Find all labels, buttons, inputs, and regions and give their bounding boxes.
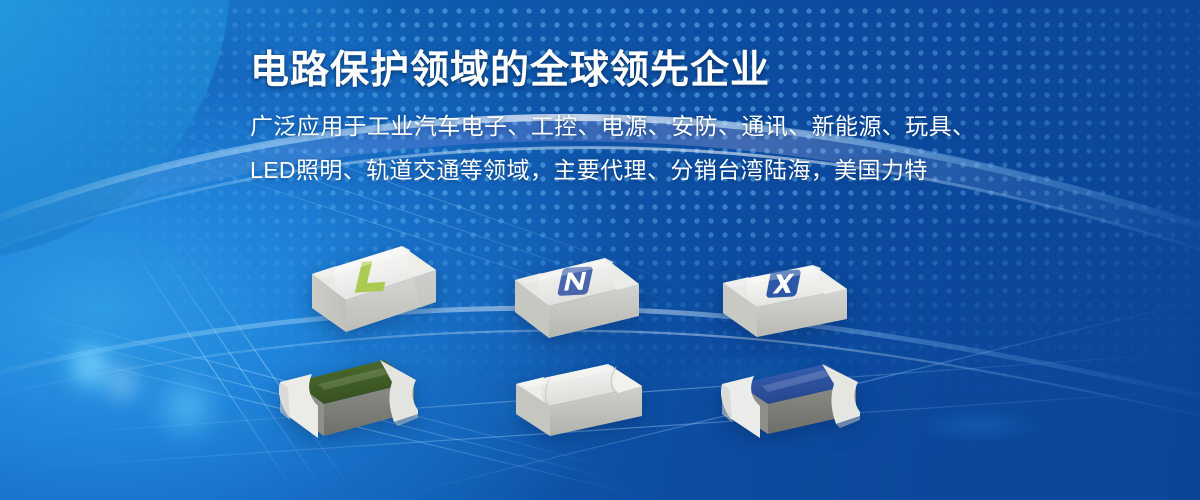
hero-banner: 电路保护领域的全球领先企业 广泛应用于工业汽车电子、工控、电源、安防、通讯、新能… xyxy=(0,0,1200,500)
glow-orb xyxy=(150,370,224,444)
banner-subtitle: 广泛应用于工业汽车电子、工控、电源、安防、通讯、新能源、玩具、 LED照明、轨道… xyxy=(250,109,1070,188)
banner-headline: 电路保护领域的全球领先企业 xyxy=(250,48,1070,93)
banner-copy: 电路保护领域的全球领先企业 广泛应用于工业汽车电子、工控、电源、安防、通讯、新能… xyxy=(250,48,1070,197)
banner-subtitle-line-2: LED照明、轨道交通等领域，主要代理、分销台湾陆海，美国力特 xyxy=(250,153,1070,188)
banner-subtitle-line-1: 广泛应用于工业汽车电子、工控、电源、安防、通讯、新能源、玩具、 xyxy=(250,109,1070,144)
product-fuse-n-blue[interactable] xyxy=(497,250,647,358)
glow-orb xyxy=(98,358,146,406)
product-fuse-x-blue[interactable] xyxy=(707,255,857,359)
product-fuse-white-body[interactable] xyxy=(502,356,652,456)
product-fuse-green-body[interactable] xyxy=(268,352,420,456)
product-fuse-blue-body[interactable] xyxy=(712,356,864,458)
product-fuse-l-green[interactable] xyxy=(290,240,440,350)
